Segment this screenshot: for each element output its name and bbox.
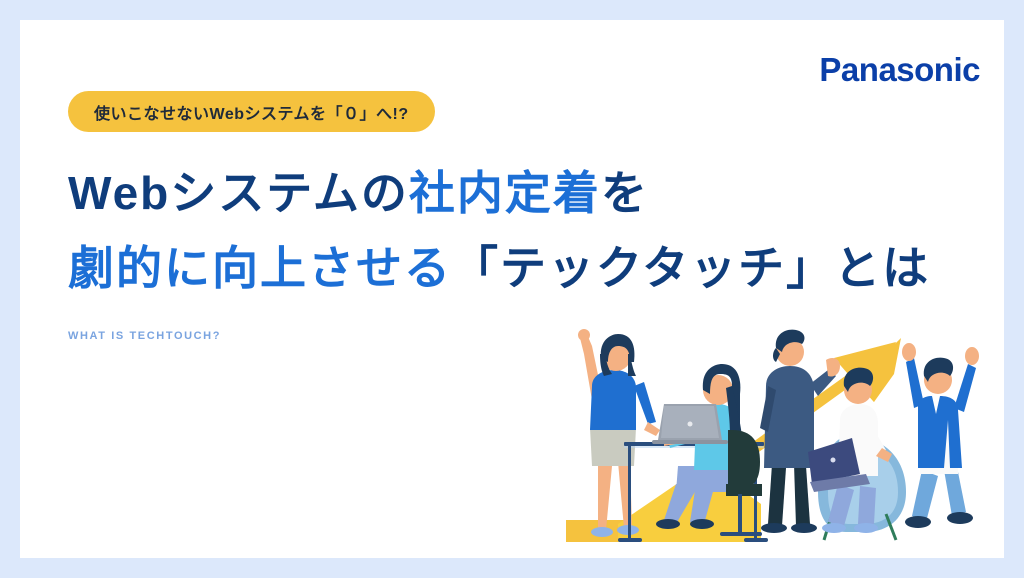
team-celebrating-growth-illustration	[556, 324, 996, 554]
panasonic-logo: Panasonic	[819, 53, 980, 86]
page-title-line-1: Webシステムの社内定着を	[68, 156, 998, 231]
page-title-line2-part1: 劇的に向上させる	[68, 242, 452, 294]
page-title-line1-part1: Webシステムの	[68, 167, 409, 219]
tagline-badge: 使いこなせないWebシステムを「０」へ!?	[68, 91, 435, 132]
laptop-on-desk	[652, 404, 728, 444]
page-title-line1-part3: を	[601, 167, 649, 219]
page-title: Webシステムの社内定着を 劇的に向上させる「テックタッチ」とは	[68, 156, 998, 306]
tagline-badge-label: 使いこなせないWebシステムを「０」へ!?	[94, 100, 409, 124]
slide-frame: Panasonic 使いこなせないWebシステムを「０」へ!? Webシステムの…	[0, 0, 1024, 578]
person-jumping-right	[902, 343, 979, 528]
eyebrow-label: WHAT IS TECHTOUCH?	[68, 330, 221, 342]
page-title-line2-part2: 「テックタッチ」とは	[452, 242, 930, 294]
page-title-line-2: 劇的に向上させる「テックタッチ」とは	[68, 231, 998, 306]
slide-card: Panasonic 使いこなせないWebシステムを「０」へ!? Webシステムの…	[20, 20, 1004, 558]
page-title-line1-part2: 社内定着	[409, 167, 601, 219]
